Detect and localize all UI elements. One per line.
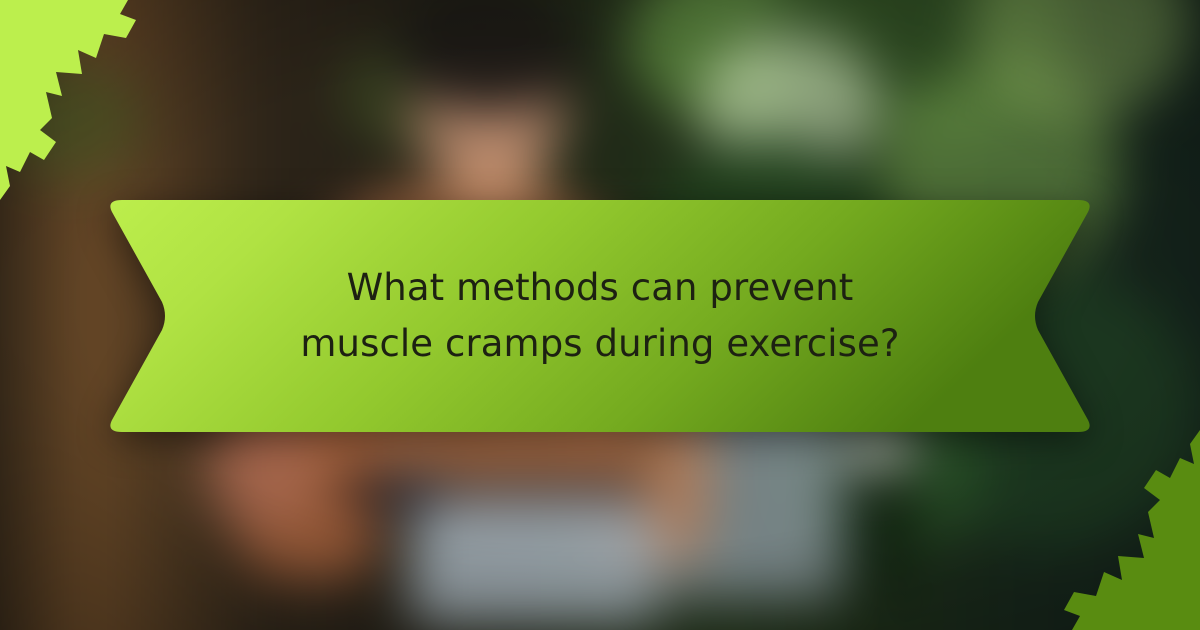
title-banner: What methods can prevent muscle cramps d… xyxy=(106,197,1094,435)
banner-title: What methods can prevent muscle cramps d… xyxy=(281,260,919,372)
share-card: What methods can prevent muscle cramps d… xyxy=(0,0,1200,630)
